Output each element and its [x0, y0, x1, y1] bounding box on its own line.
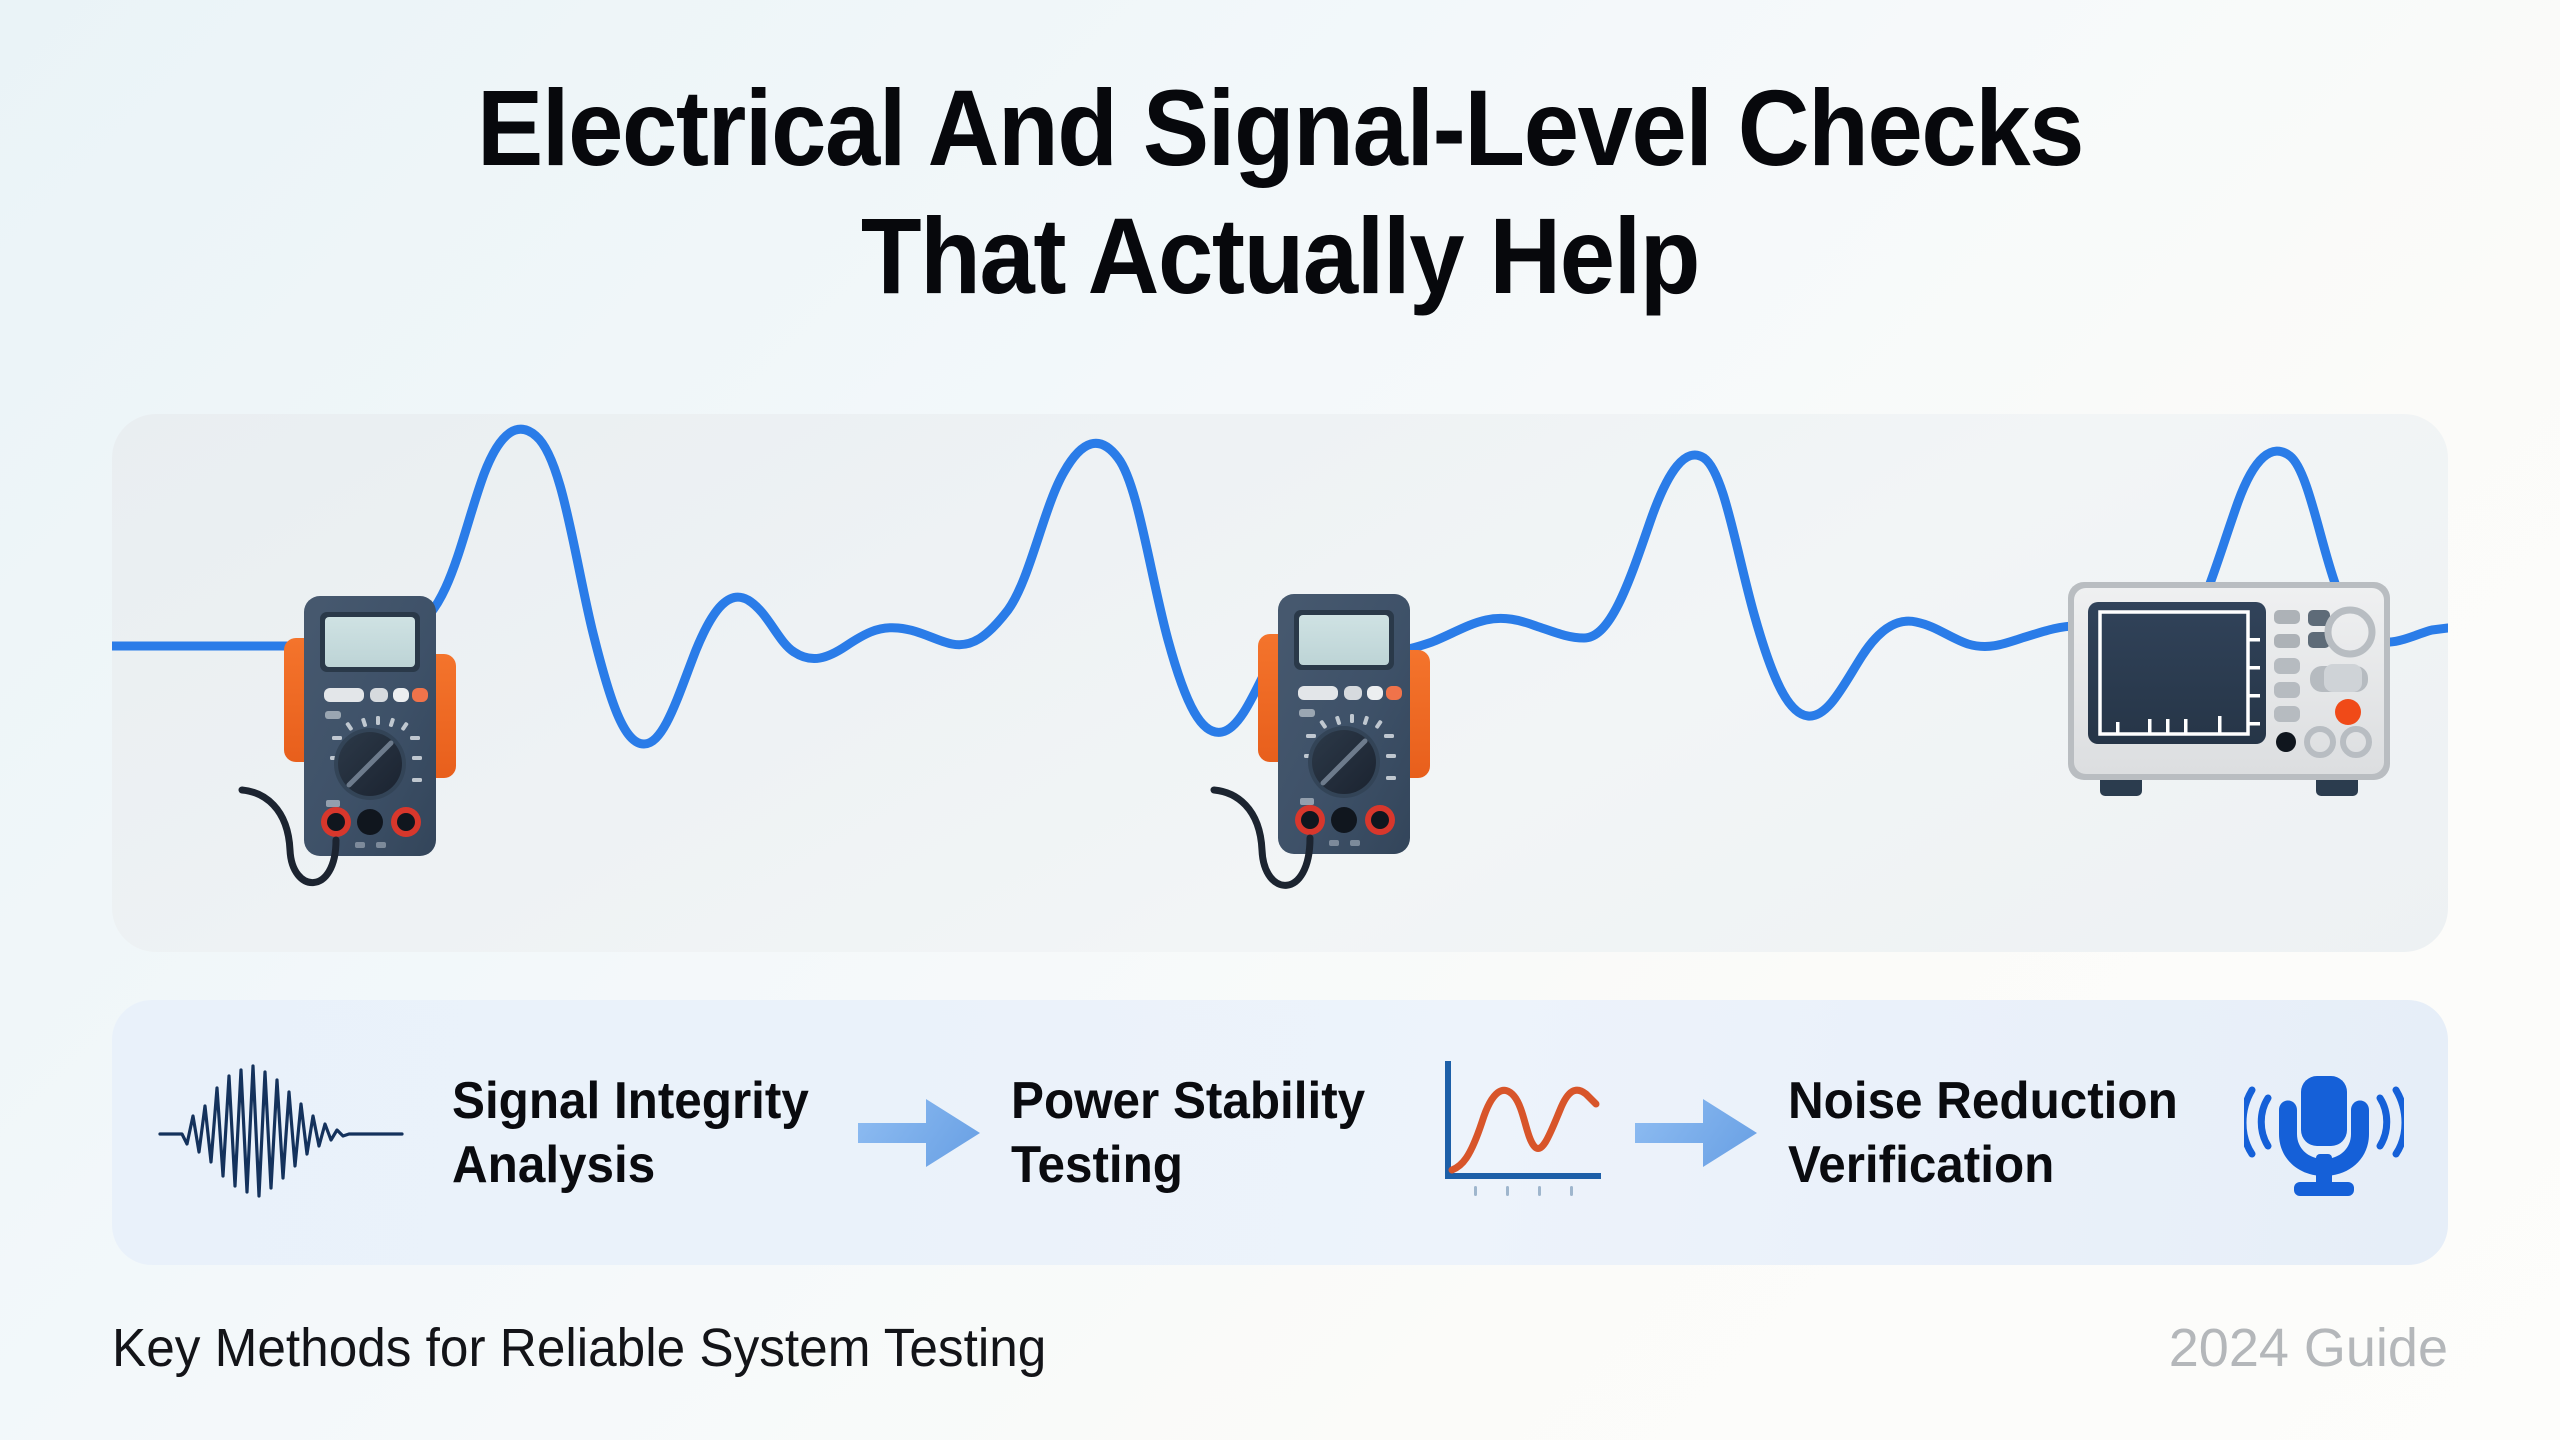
multimeter-jack-label	[1300, 798, 1314, 805]
multimeter-center	[1214, 594, 1430, 885]
multimeter-jack-hole-2	[397, 813, 415, 831]
multimeter-jack-micro-label-2	[376, 842, 386, 848]
multimeter-button-1	[1298, 686, 1338, 700]
step-label-noise-reduction: Noise Reduction Verification	[1788, 1069, 2178, 1197]
hero-illustration	[112, 414, 2448, 952]
process-steps-bar: Signal Integrity Analysis Power Stabilit…	[112, 1000, 2448, 1265]
signal-burst-waveform-icon	[156, 1058, 406, 1208]
multimeter-jack-micro-label-1	[1329, 840, 1339, 846]
multimeter-orange-button	[412, 688, 428, 702]
step-label-power-stability: Power Stability Testing	[1011, 1069, 1365, 1197]
step-label-signal-integrity: Signal Integrity Analysis	[452, 1069, 809, 1197]
multimeter-button-1	[324, 688, 364, 702]
multimeter-orange-button	[1386, 686, 1402, 700]
oscilloscope	[2068, 582, 2390, 796]
multimeter-button-2	[1344, 686, 1362, 700]
multimeter-jack-hole-1	[1301, 811, 1319, 829]
multimeter-jack-label	[326, 800, 340, 807]
multimeter-button-3	[1367, 686, 1383, 700]
footer-subtitle: Key Methods for Reliable System Testing	[112, 1318, 1046, 1378]
footer-edition-badge: 2024 Guide	[2169, 1318, 2448, 1378]
title-line-1: Electrical And Signal-Level Checks	[102, 64, 2457, 192]
multimeter-screen	[1299, 615, 1389, 665]
oscilloscope-screen	[2088, 602, 2266, 744]
page-title: Electrical And Signal-Level Checks That …	[0, 64, 2560, 320]
multimeter-button-2	[370, 688, 388, 702]
multimeter-screen	[325, 617, 415, 667]
multimeter-jack-micro-label-1	[355, 842, 365, 848]
multimeter-jack-micro-label-2	[1350, 840, 1360, 846]
multimeter-label-chip	[1299, 709, 1315, 717]
multimeter-button-3	[393, 688, 409, 702]
title-line-2: That Actually Help	[102, 192, 2457, 320]
oscilloscope-record-button[interactable]	[2335, 699, 2361, 725]
multimeter-jack-hole-1	[327, 813, 345, 831]
footer: Key Methods for Reliable System Testing …	[112, 1318, 2448, 1378]
process-arrow-2	[1631, 1085, 1761, 1181]
line-chart-ticks	[1474, 1186, 1573, 1196]
multimeter-label-chip	[325, 711, 341, 719]
line-chart-icon	[1430, 1058, 1605, 1208]
infographic-canvas: Electrical And Signal-Level Checks That …	[0, 0, 2560, 1440]
oscilloscope-slider-handle	[2324, 664, 2362, 692]
multimeter-jack-black	[1331, 807, 1357, 833]
multimeter-left	[242, 596, 456, 883]
microphone-icon	[2244, 1058, 2404, 1208]
process-arrow-1	[854, 1085, 984, 1181]
hero-illustration-panel	[112, 414, 2448, 952]
multimeter-jack-black	[357, 809, 383, 835]
oscilloscope-power-dot	[2276, 732, 2296, 752]
multimeter-jack-hole-2	[1371, 811, 1389, 829]
